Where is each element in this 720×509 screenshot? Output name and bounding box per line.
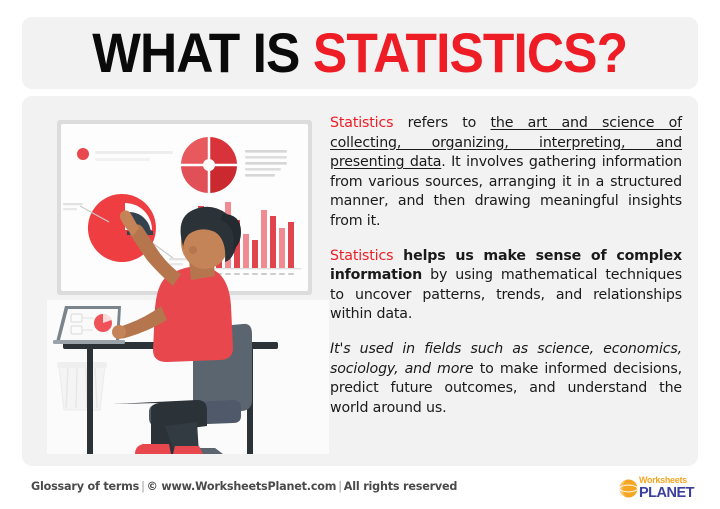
footer-credit-line: Glossary of terms|© www.WorksheetsPlanet… — [31, 480, 457, 493]
globe-icon — [619, 479, 638, 498]
logo-wordmark: Worksheets PLANET — [639, 476, 694, 501]
title-part-red: STATISTICS? — [313, 21, 627, 84]
footer-copyright[interactable]: © www.WorksheetsPlanet.com — [147, 480, 337, 493]
illustration-person-at-desk-with-data-charts — [47, 110, 329, 454]
logo-text-planet: PLANET — [639, 486, 694, 501]
paragraph-1-lead: refers to — [393, 115, 490, 131]
footer-rights: All rights reserved — [344, 480, 457, 493]
paragraph-2: Statistics helps us make sense of comple… — [330, 247, 682, 325]
footer-separator-2: | — [338, 480, 342, 493]
logo-text-worksheets: Worksheets — [639, 476, 694, 485]
definition-text-column: Statistics refers to the art and science… — [330, 114, 682, 454]
title-panel: WHAT IS STATISTICS? — [22, 17, 698, 89]
paragraph-3: It's used in fields such as science, eco… — [330, 340, 682, 418]
page-title: WHAT IS STATISTICS? — [93, 25, 628, 81]
wastebasket — [57, 362, 107, 410]
laptop — [53, 306, 125, 344]
title-part-black: WHAT IS — [93, 21, 314, 84]
footer-glossary-label: Glossary of terms — [31, 480, 139, 493]
keyword-statistics-2: Statistics — [330, 248, 393, 264]
worksheets-planet-logo[interactable]: Worksheets PLANET — [619, 476, 701, 502]
content-panel: Statistics refers to the art and science… — [22, 96, 698, 466]
keyword-statistics-1: Statistics — [330, 115, 393, 131]
whiteboard-donut-chart — [181, 137, 237, 193]
footer-separator-1: | — [141, 480, 145, 493]
footer: Glossary of terms|© www.WorksheetsPlanet… — [0, 471, 720, 509]
paragraph-1: Statistics refers to the art and science… — [330, 114, 682, 232]
